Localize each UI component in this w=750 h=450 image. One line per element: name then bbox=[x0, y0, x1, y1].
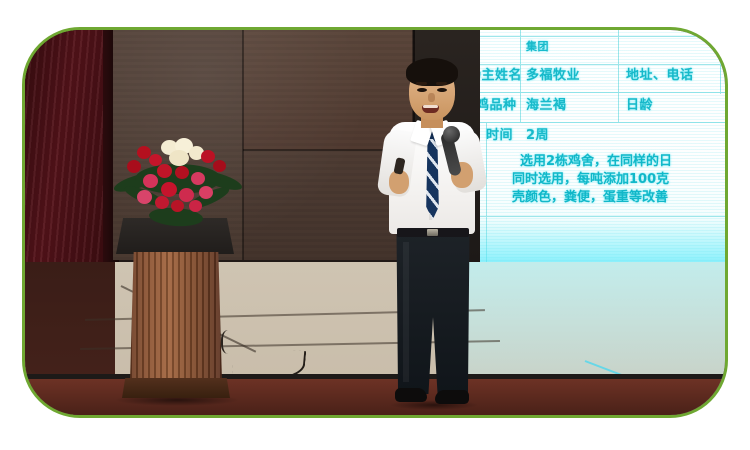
red-flower bbox=[157, 164, 172, 178]
wall-seam-vertical-left bbox=[242, 30, 244, 260]
red-flower bbox=[161, 182, 177, 197]
belt-buckle bbox=[427, 229, 438, 236]
photo-frame: 集团 场主姓名 多福牧业 地址、电话 鸡品种 海兰褐 日龄 时间 2周 选用2栋… bbox=[22, 27, 728, 418]
red-flower bbox=[175, 166, 189, 179]
pink-flower bbox=[199, 186, 213, 199]
conference-photo: 集团 场主姓名 多福牧业 地址、电话 鸡品种 海兰褐 日龄 时间 2周 选用2栋… bbox=[25, 30, 725, 415]
eye-right bbox=[437, 88, 447, 92]
pink-flower bbox=[143, 174, 158, 188]
flower-arrangement bbox=[113, 130, 241, 230]
lily-flower bbox=[169, 150, 189, 166]
projection-screen: 集团 场主姓名 多福牧业 地址、电话 鸡品种 海兰褐 日龄 时间 2周 选用2栋… bbox=[480, 30, 725, 288]
speaker-shoe-right bbox=[435, 390, 469, 404]
red-flower bbox=[155, 196, 169, 209]
pink-flower bbox=[137, 190, 152, 204]
lectern-body bbox=[130, 252, 222, 382]
eye-left bbox=[417, 88, 427, 92]
teeth bbox=[423, 105, 438, 108]
nose bbox=[428, 93, 435, 102]
microphone-head bbox=[443, 126, 460, 143]
speaker-figure bbox=[377, 58, 489, 415]
speaker-hair bbox=[406, 58, 458, 86]
trouser-crease bbox=[403, 242, 409, 382]
red-flower bbox=[213, 160, 226, 172]
pink-flower bbox=[191, 172, 205, 185]
red-flower bbox=[171, 200, 184, 212]
red-flower bbox=[201, 150, 215, 163]
lectern-base bbox=[122, 378, 230, 398]
screenshot-root: 集团 场主姓名 多福牧业 地址、电话 鸡品种 海兰褐 日龄 时间 2周 选用2栋… bbox=[0, 0, 750, 450]
pink-flower bbox=[189, 200, 202, 212]
eyebrow-left bbox=[416, 82, 427, 85]
red-flower bbox=[127, 160, 141, 173]
lectern bbox=[110, 218, 240, 415]
eyebrow-right bbox=[436, 82, 447, 85]
speaker-shoe-left bbox=[395, 388, 427, 402]
